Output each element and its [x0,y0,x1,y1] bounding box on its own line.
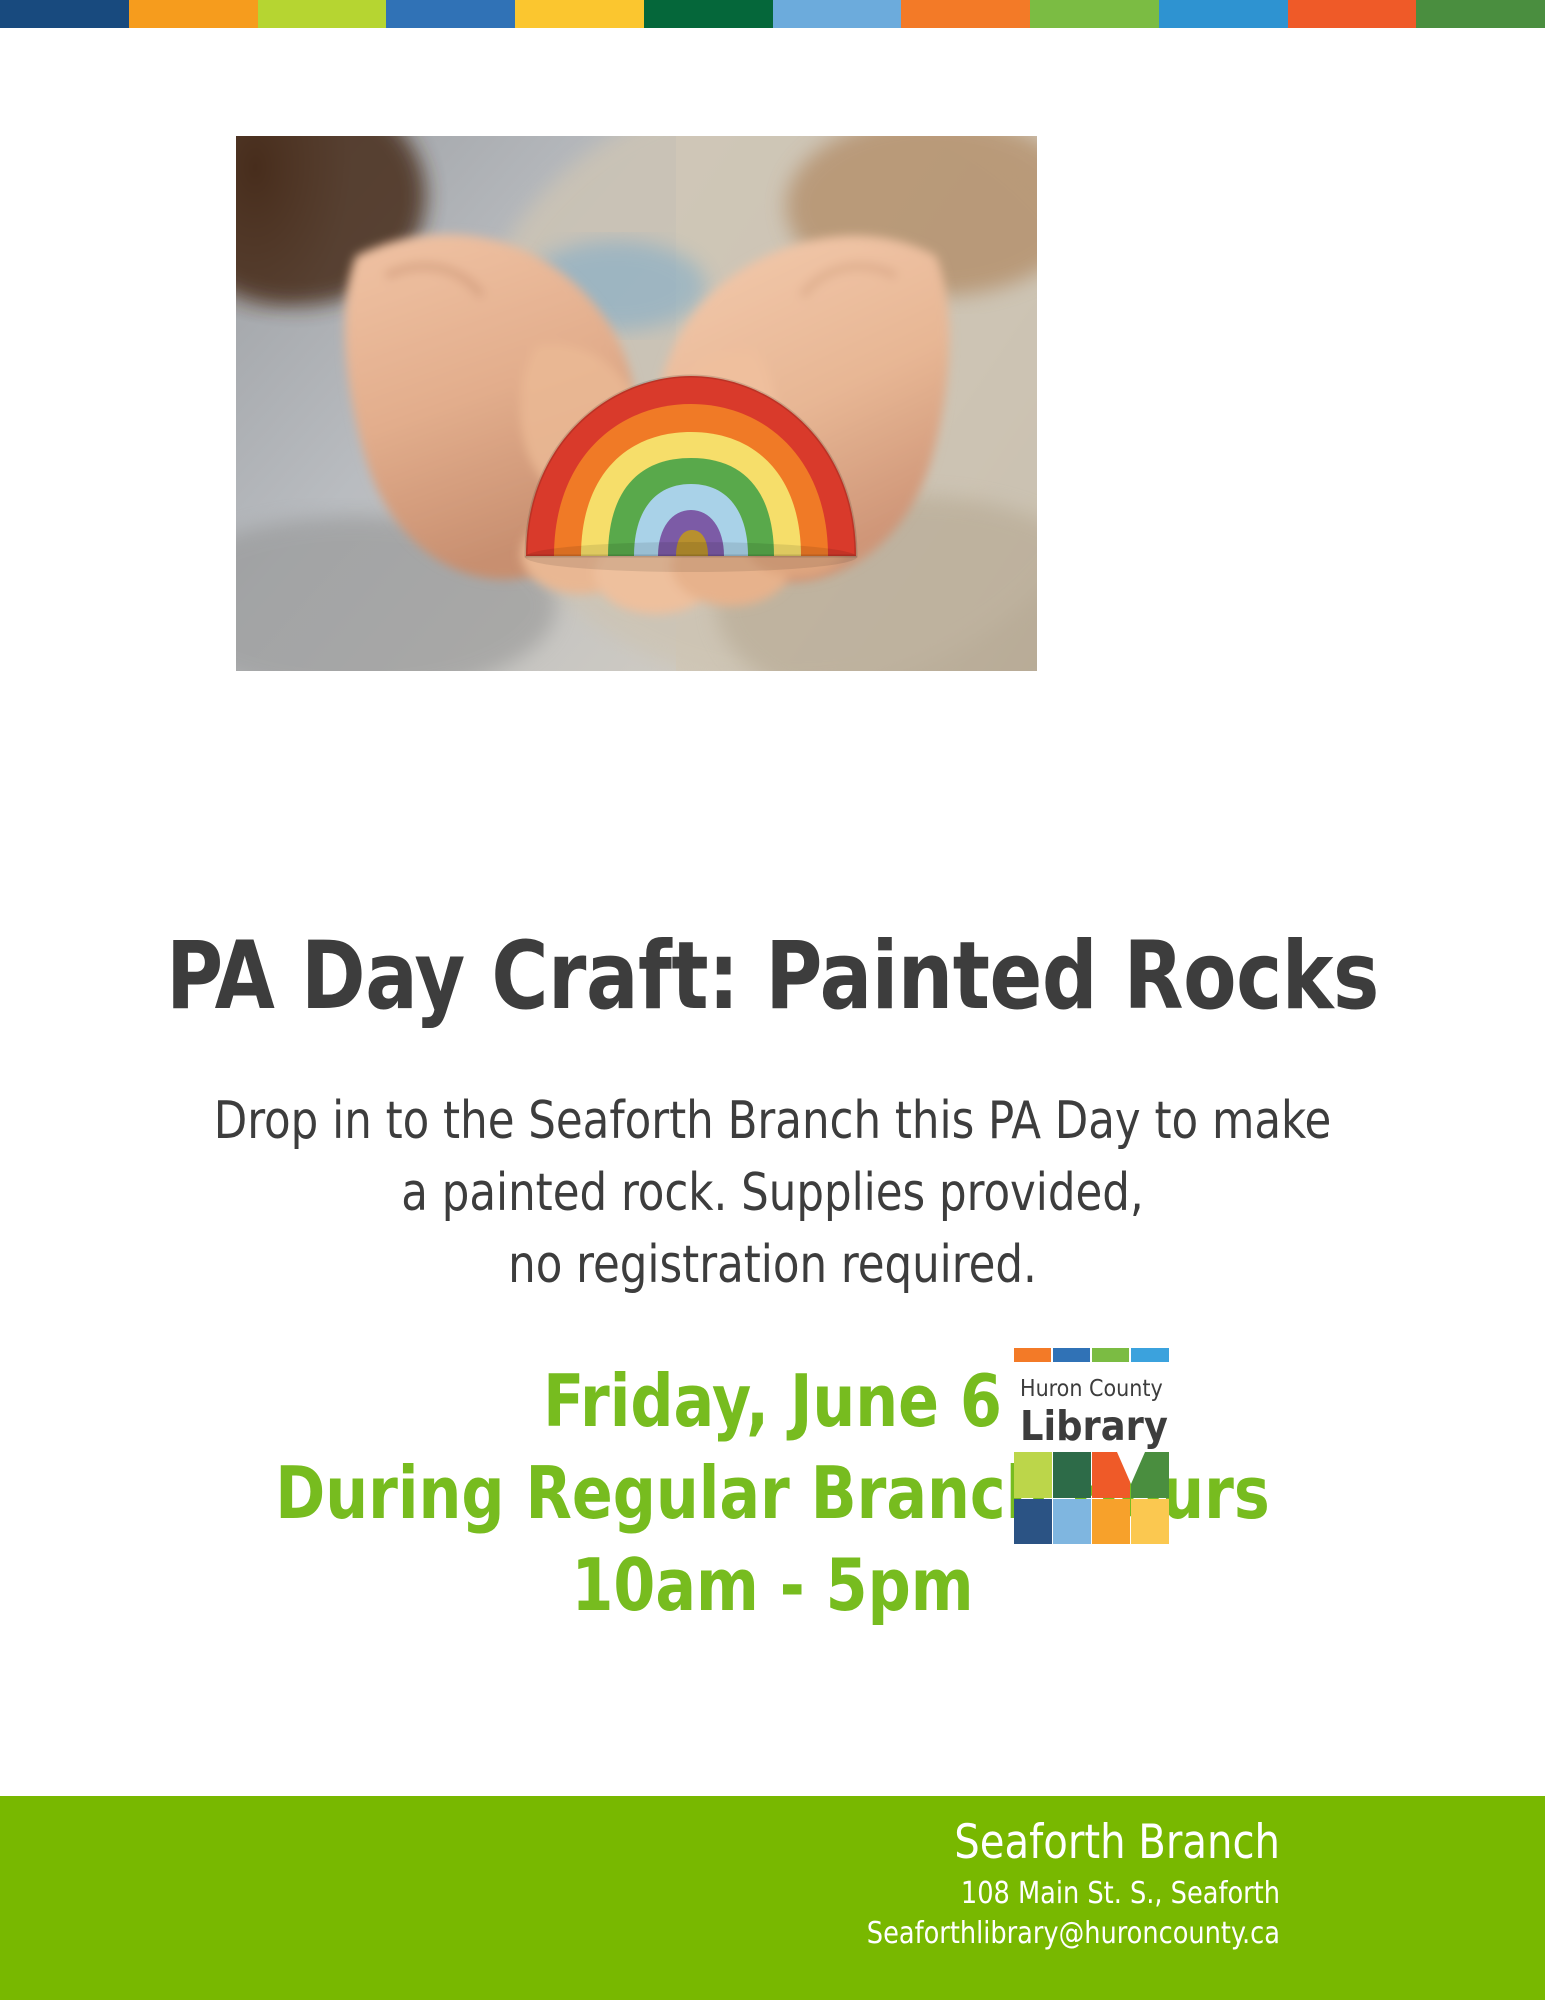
hero-photo-illustration [236,136,1037,671]
color-strip-segment-5 [515,0,644,28]
logo-top-strip [1014,1348,1169,1362]
logo-mark: Huron County Library [1014,1348,1210,1544]
color-strip-segment-12 [1416,0,1545,28]
top-color-strip [0,0,1545,28]
color-strip-segment-10 [1159,0,1288,28]
event-date-time: Friday, June 6 During Regular Branch Hou… [54,1355,1491,1631]
color-strip-segment-2 [129,0,258,28]
description-text: Drop in to the Seaforth Branch this PA D… [54,1085,1491,1301]
color-strip-segment-8 [901,0,1030,28]
description-line-3: no registration required. [54,1229,1491,1301]
footer-contact: Seaforth Branch 108 Main St. S., Seafort… [425,1812,1280,1954]
description-line-1: Drop in to the Seaforth Branch this PA D… [54,1085,1491,1157]
description-line-2: a painted rock. Supplies provided, [54,1157,1491,1229]
color-strip-segment-4 [386,0,515,28]
event-date: Friday, June 6 [54,1355,1491,1447]
color-strip-segment-3 [258,0,387,28]
logo-line-1: Huron County [1020,1376,1163,1402]
branch-address: 108 Main St. S., Seaforth [425,1874,1280,1914]
event-hours-label: During Regular Branch Hours [54,1447,1491,1539]
huron-county-library-logo: Huron County Library [1014,1348,1210,1544]
color-strip-segment-6 [644,0,773,28]
color-strip-segment-9 [1030,0,1159,28]
poster: PA Day Craft: Painted Rocks Drop in to t… [0,0,1545,2000]
page-title: PA Day Craft: Painted Rocks [62,930,1483,1024]
event-time: 10am - 5pm [54,1539,1491,1631]
branch-email[interactable]: Seaforthlibrary@huroncounty.ca [425,1914,1280,1954]
color-strip-segment-11 [1288,0,1417,28]
color-strip-segment-1 [0,0,129,28]
branch-name: Seaforth Branch [425,1812,1280,1874]
color-strip-segment-7 [773,0,902,28]
logo-tile-grid [1014,1452,1169,1544]
logo-line-2: Library [1020,1402,1168,1450]
hero-photo [236,136,1037,671]
